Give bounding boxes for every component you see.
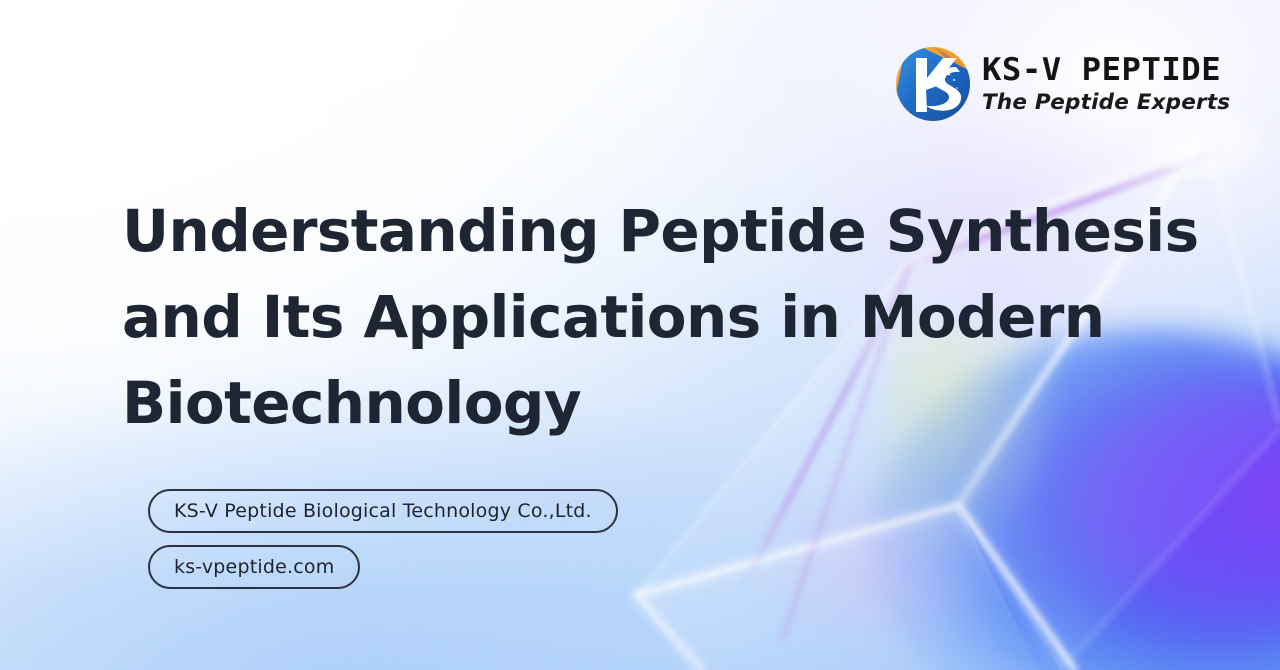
brand-logo[interactable]: KS-V PEPTIDE The Peptide Experts [893, 44, 1230, 124]
logo-brand-name: KS-V PEPTIDE [982, 55, 1240, 86]
website-pill[interactable]: ks-vpeptide.com [148, 545, 360, 589]
badge-group: KS-V Peptide Biological Technology Co.,L… [148, 489, 618, 589]
company-name-pill[interactable]: KS-V Peptide Biological Technology Co.,L… [148, 489, 618, 533]
logo-wordmark: KS-V PEPTIDE The Peptide Experts [982, 55, 1230, 114]
ks-v-peptide-circular-logo-icon [893, 44, 973, 124]
headline-line-2: and Its Applications in Modern [122, 274, 1212, 360]
banner-root: KS-V PEPTIDE The Peptide Experts Underst… [0, 0, 1280, 670]
logo-tagline: The Peptide Experts [982, 92, 1230, 114]
page-title: Understanding Peptide Synthesis and Its … [122, 188, 1212, 446]
headline-line-3: Biotechnology [122, 360, 1212, 446]
headline-line-1: Understanding Peptide Synthesis [122, 188, 1212, 274]
